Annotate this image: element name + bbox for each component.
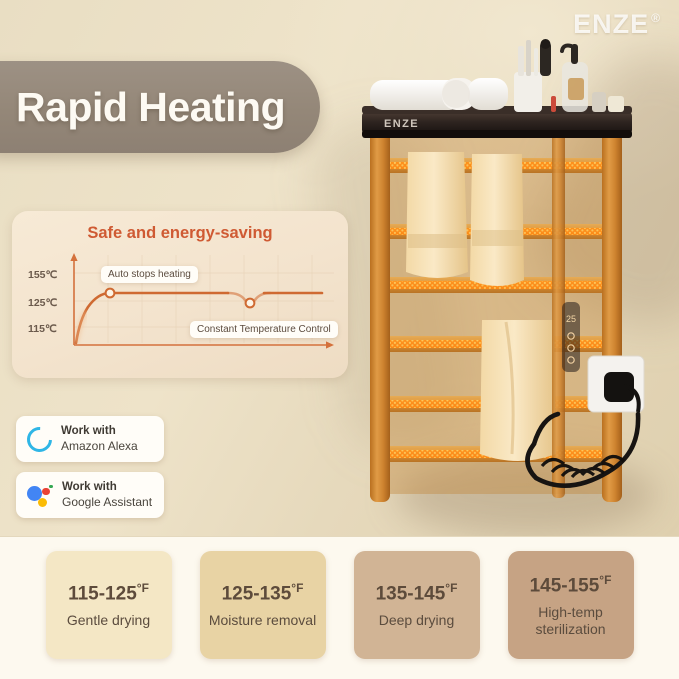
registered-mark-icon: ® <box>651 12 661 24</box>
product-marketing-image: ENZE <box>0 0 679 679</box>
badge-google-line2: Google Assistant <box>62 495 152 509</box>
callout-auto-stops-heating: Auto stops heating <box>101 266 198 283</box>
callout-constant-temperature: Constant Temperature Control <box>190 321 338 338</box>
temperature-range: 125-135°F <box>222 581 304 605</box>
temperature-desc: Moisture removal <box>209 612 316 629</box>
badge-amazon-alexa: Work with Amazon Alexa <box>16 416 164 462</box>
badge-google-assistant: Work with Google Assistant <box>16 472 164 518</box>
brand-logo: ENZE ® <box>573 9 661 40</box>
temperature-desc: Deep drying <box>379 612 455 629</box>
temperature-card-list: 115-125°F Gentle drying 125-135°F Moistu… <box>0 537 679 659</box>
page-title: Rapid Heating <box>0 84 285 131</box>
y-axis-tick-155: 155℃ <box>28 269 57 281</box>
alexa-ring-icon <box>22 421 57 456</box>
product-scene: ENZE <box>0 0 679 536</box>
badge-alexa-line2: Amazon Alexa <box>61 439 138 453</box>
wall-outlet <box>588 356 644 412</box>
brand-name: ENZE <box>573 9 649 40</box>
y-axis-tick-125: 125℃ <box>28 297 57 309</box>
shelf-towels <box>370 78 508 110</box>
temperature-range: 145-155°F <box>530 573 612 597</box>
temperature-desc: High-temp sterilization <box>508 604 634 638</box>
left-post <box>370 122 390 502</box>
temperature-card: 115-125°F Gentle drying <box>46 551 172 659</box>
temperature-card: 125-135°F Moisture removal <box>200 551 326 659</box>
energy-chart-card: Safe and energy-saving <box>12 211 348 378</box>
temperature-modes-strip: 115-125°F Gentle drying 125-135°F Moistu… <box>0 536 679 679</box>
temperature-range: 135-145°F <box>376 581 458 605</box>
temperature-range: 115-125°F <box>68 581 149 605</box>
svg-text:ENZE: ENZE <box>384 118 419 130</box>
shelf-toiletries <box>514 39 624 112</box>
top-shelf: ENZE <box>362 106 632 138</box>
temperature-card: 135-145°F Deep drying <box>354 551 480 659</box>
google-dots-icon <box>27 483 53 508</box>
hanging-towel-middle <box>470 154 524 286</box>
chart-title: Safe and energy-saving <box>12 224 348 243</box>
y-axis-tick-115: 115℃ <box>28 323 57 335</box>
panel-display: 25 <box>566 314 576 324</box>
hanging-towel-upper <box>406 152 468 278</box>
marker-auto-stop <box>106 289 115 298</box>
headline-banner: Rapid Heating <box>0 61 320 153</box>
badge-alexa-line1: Work with <box>61 425 138 439</box>
badge-google-line1: Work with <box>62 481 152 495</box>
temperature-desc: Gentle drying <box>67 612 150 629</box>
control-panel: 25 <box>562 302 580 372</box>
towel-warmer-illustration: ENZE <box>356 34 656 534</box>
hanging-towel-lower <box>480 320 556 461</box>
marker-constant-temp <box>246 299 255 308</box>
temperature-card: 145-155°F High-temp sterilization <box>508 551 634 659</box>
right-post <box>602 122 622 502</box>
